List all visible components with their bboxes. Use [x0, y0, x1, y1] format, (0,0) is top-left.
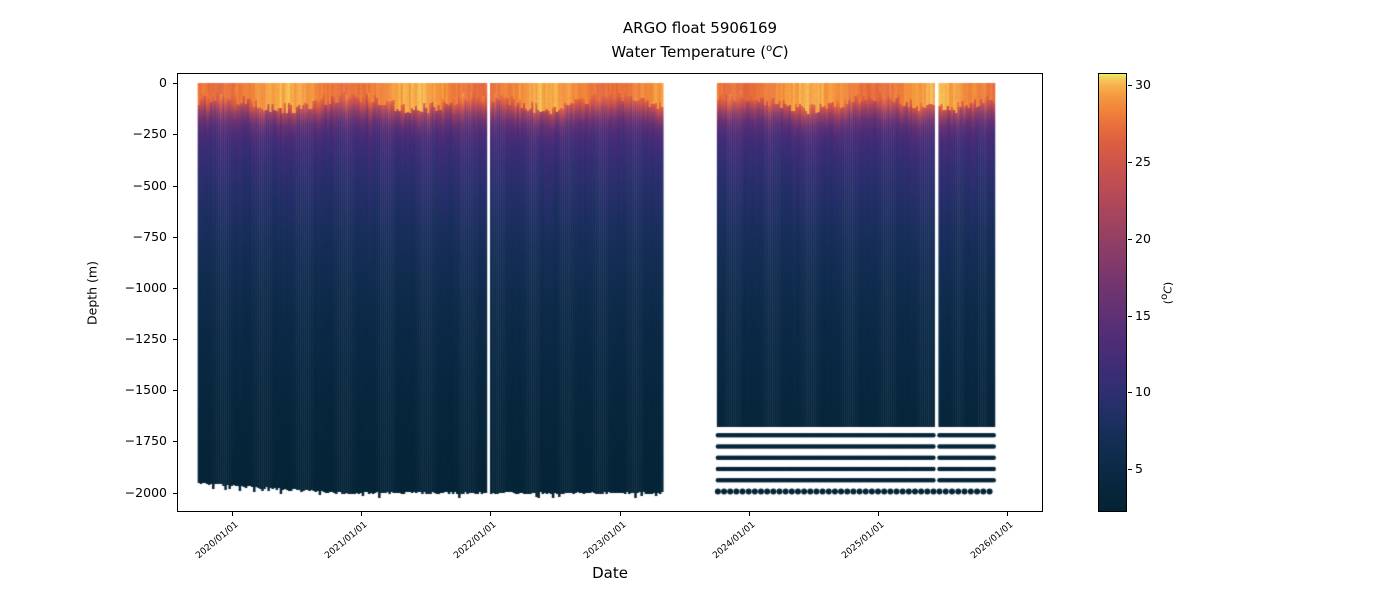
x-tick-mark — [749, 512, 750, 516]
colorbar-tick-label: 20 — [1135, 232, 1151, 245]
y-tick-label: −1750 — [107, 434, 167, 447]
x-tick-label: 2023/01/01 — [576, 520, 628, 566]
figure-title-line1: ARGO float 5906169 — [0, 18, 1400, 38]
colorbar-label-suffix: ) — [1162, 282, 1175, 286]
y-tick-label: −250 — [107, 127, 167, 140]
y-tick-label: −1250 — [107, 332, 167, 345]
x-tick-label: 2026/01/01 — [963, 520, 1015, 566]
y-tick-label: −750 — [107, 230, 167, 243]
x-tick-label: 2025/01/01 — [834, 520, 886, 566]
celsius-symbol: C — [772, 43, 782, 61]
x-tick-mark — [620, 512, 621, 516]
colorbar-tick-mark — [1128, 239, 1132, 240]
x-tick-label: 2020/01/01 — [188, 520, 240, 566]
plot-axes — [177, 73, 1043, 512]
x-tick-mark — [361, 512, 362, 516]
y-tick-mark — [173, 288, 177, 289]
x-tick-mark — [1007, 512, 1008, 516]
y-tick-mark — [173, 493, 177, 494]
colorbar-tick-mark — [1128, 162, 1132, 163]
colorbar-tick-mark — [1128, 85, 1132, 86]
y-axis-label: Depth (m) — [85, 261, 100, 325]
colorbar-tick-label: 5 — [1135, 462, 1143, 475]
x-tick-label: 2021/01/01 — [317, 520, 369, 566]
y-tick-label: −500 — [107, 179, 167, 192]
y-tick-mark — [173, 83, 177, 84]
temperature-section-heatmap — [178, 74, 1042, 511]
x-tick-label: 2024/01/01 — [705, 520, 757, 566]
colorbar-label: (oC) — [1162, 282, 1175, 304]
x-tick-mark — [490, 512, 491, 516]
figure-title-unit-prefix: Water Temperature ( — [611, 43, 766, 61]
colorbar-tick-mark — [1128, 469, 1132, 470]
y-tick-mark — [173, 134, 177, 135]
x-tick-label: 2022/01/01 — [446, 520, 498, 566]
colorbar-gradient — [1098, 73, 1127, 512]
x-axis-label: Date — [592, 564, 628, 582]
colorbar-tick-label: 30 — [1135, 78, 1151, 91]
x-tick-mark — [232, 512, 233, 516]
figure-canvas: ARGO float 5906169 Water Temperature (oC… — [0, 0, 1400, 600]
colorbar-label-prefix: ( — [1162, 300, 1175, 304]
colorbar — [1098, 73, 1127, 512]
colorbar-celsius-symbol: C — [1162, 286, 1175, 294]
colorbar-tick-label: 25 — [1135, 155, 1151, 168]
y-tick-mark — [173, 441, 177, 442]
colorbar-tick-mark — [1128, 316, 1132, 317]
figure-title-line2: Water Temperature (oC) — [0, 42, 1400, 62]
y-tick-mark — [173, 339, 177, 340]
y-tick-label: 0 — [107, 76, 167, 89]
x-tick-mark — [878, 512, 879, 516]
colorbar-tick-mark — [1128, 392, 1132, 393]
figure-title-unit-suffix: ) — [783, 43, 789, 61]
y-tick-mark — [173, 237, 177, 238]
y-tick-label: −1000 — [107, 281, 167, 294]
y-tick-mark — [173, 390, 177, 391]
colorbar-tick-label: 15 — [1135, 309, 1151, 322]
y-tick-label: −2000 — [107, 486, 167, 499]
colorbar-degree-symbol: o — [1159, 294, 1170, 300]
y-tick-label: −1500 — [107, 383, 167, 396]
colorbar-tick-label: 10 — [1135, 385, 1151, 398]
y-tick-mark — [173, 186, 177, 187]
